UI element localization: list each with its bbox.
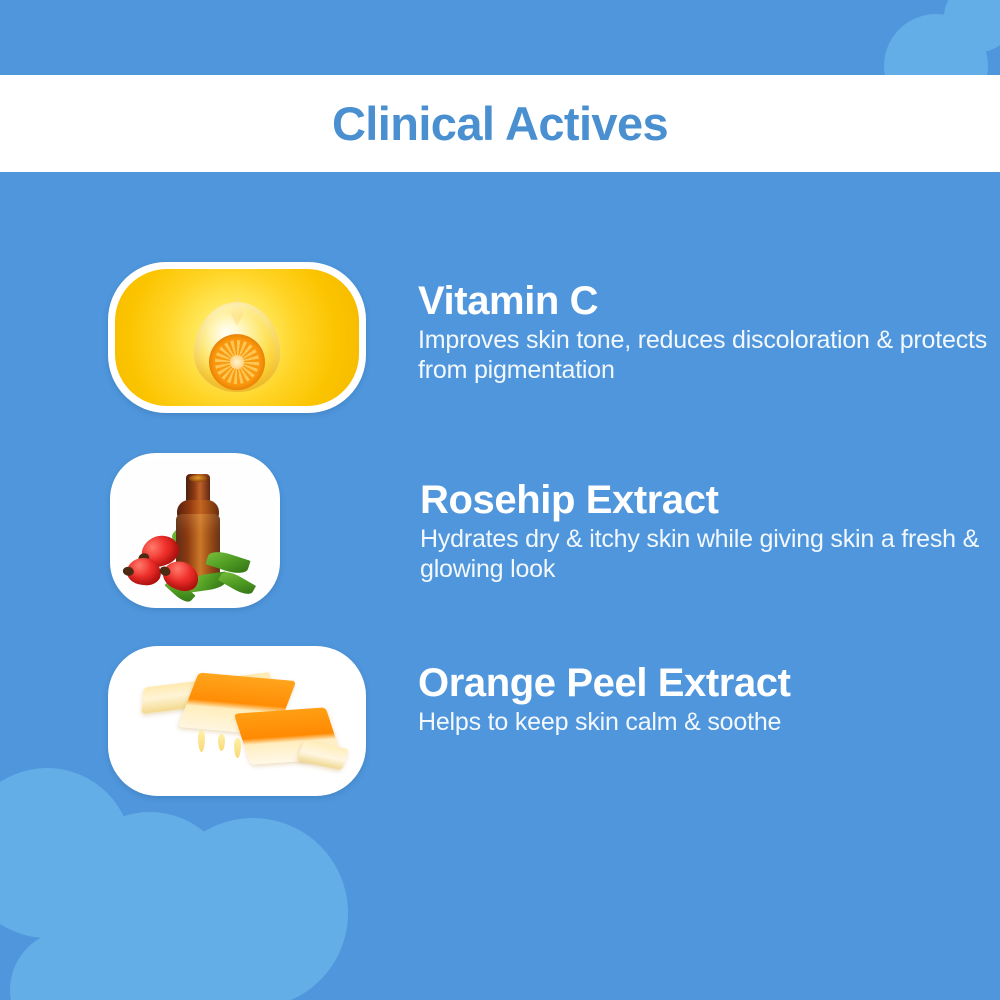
ingredient-list: Vitamin C Improves skin tone, reduces di…: [0, 262, 1000, 796]
clinical-actives-infographic: Clinical Actives Vitamin C Improves skin…: [0, 0, 1000, 1000]
rosehip-thumbnail: [110, 453, 280, 608]
orange-slice-icon: [209, 334, 265, 390]
ingredient-title: Vitamin C: [418, 280, 998, 322]
decorative-circle-top-right-2: [944, 0, 1000, 52]
orange-peel-text: Orange Peel Extract Helps to keep skin c…: [366, 646, 791, 738]
page-title: Clinical Actives: [332, 100, 668, 147]
vitamin-c-text: Vitamin C Improves skin tone, reduces di…: [366, 262, 998, 385]
ingredient-row-rosehip-extract: Rosehip Extract Hydrates dry & itchy ski…: [0, 453, 1000, 608]
ingredient-row-orange-peel-extract: Orange Peel Extract Helps to keep skin c…: [0, 646, 1000, 796]
ingredient-title: Orange Peel Extract: [418, 662, 791, 704]
ingredient-description: Hydrates dry & itchy skin while giving s…: [420, 525, 1000, 584]
header-band: Clinical Actives: [0, 75, 1000, 172]
decorative-circle-bottom-left-5: [10, 930, 130, 1000]
vitamin-c-thumbnail: [108, 262, 366, 413]
ingredient-row-vitamin-c: Vitamin C Improves skin tone, reduces di…: [0, 262, 1000, 413]
decorative-circle-bottom-left-4: [158, 818, 348, 1000]
oil-droplet-icon: [194, 288, 280, 392]
orange-peel-thumbnail: [108, 646, 366, 796]
ingredient-description: Helps to keep skin calm & soothe: [418, 708, 791, 738]
ingredient-title: Rosehip Extract: [420, 479, 1000, 521]
decorative-circle-bottom-left-3: [86, 882, 236, 1000]
ingredient-description: Improves skin tone, reduces discoloratio…: [418, 326, 998, 385]
rosehip-text: Rosehip Extract Hydrates dry & itchy ski…: [280, 453, 1000, 584]
decorative-circle-bottom-left-2: [66, 812, 234, 980]
